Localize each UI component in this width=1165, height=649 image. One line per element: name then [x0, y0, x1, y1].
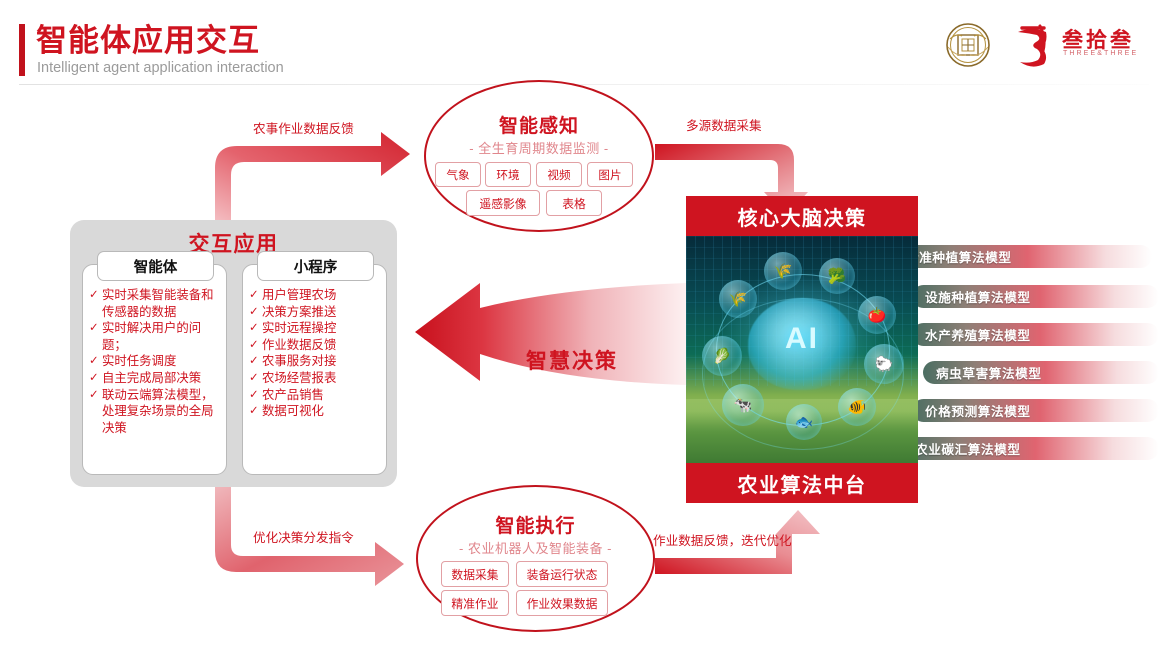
slide-canvas: 智能体应用交互 Intelligent agent application in… — [0, 0, 1165, 649]
cow-bubble-icon: 🐄 — [722, 384, 764, 426]
check-icon: ✓ — [89, 387, 102, 404]
algorithm-model-pill[interactable]: 精准种植算法模型 — [893, 245, 1152, 268]
execution-node[interactable]: 智能执行 - 农业机器人及智能装备 - 数据采集 装备运行状态 精准作业 作业效… — [416, 485, 655, 632]
fish-bubble-icon: 🐟 — [786, 404, 822, 440]
perception-title: 智能感知 — [426, 111, 652, 138]
flow-label-bottom-left: 优化决策分发指令 — [253, 527, 354, 546]
list-item: ✓作业数据反馈 — [249, 337, 382, 354]
card-miniprogram[interactable]: 小程序 ✓用户管理农场 ✓决策方案推送 ✓实时远程操控 ✓作业数据反馈 ✓农事服… — [242, 264, 387, 475]
brand-mark-icon — [1010, 22, 1056, 68]
check-icon: ✓ — [249, 353, 262, 370]
check-icon: ✓ — [89, 370, 102, 387]
list-item-label: 自主完成局部决策 — [102, 370, 222, 387]
sheep-bubble-icon: 🐑 — [864, 344, 904, 384]
list-item-label: 数据可视化 — [262, 403, 382, 420]
broccoli-bubble-icon: 🥦 — [819, 258, 855, 294]
perception-node[interactable]: 智能感知 - 全生育周期数据监测 - 气象 环境 视频 图片 遥感影像 表格 — [424, 80, 654, 232]
perception-chip[interactable]: 气象 — [435, 162, 481, 187]
list-item: ✓农产品销售 — [249, 387, 382, 404]
check-icon: ✓ — [249, 387, 262, 404]
algorithm-model-pill[interactable]: 病虫草害算法模型 — [923, 361, 1159, 384]
list-item: ✓实时任务调度 — [89, 353, 222, 370]
check-icon: ✓ — [249, 304, 262, 321]
list-item-label: 实时远程操控 — [262, 320, 382, 337]
core-brain-footer: 农业算法中台 — [686, 463, 918, 503]
card-agent-list: ✓实时采集智能装备和传感器的数据 ✓实时解决用户的问题； ✓实时任务调度 ✓自主… — [89, 287, 222, 436]
list-item: ✓实时解决用户的问题； — [89, 320, 222, 353]
perception-chip[interactable]: 遥感影像 — [466, 190, 540, 216]
header-divider — [19, 84, 1149, 85]
leafy-green-bubble-icon: 🥬 — [702, 336, 742, 376]
check-icon: ✓ — [89, 320, 102, 337]
list-item: ✓用户管理农场 — [249, 287, 382, 304]
list-item: ✓联动云端算法模型，处理复杂场景的全局决策 — [89, 387, 222, 437]
check-icon: ✓ — [249, 287, 262, 304]
card-agent-caption: 智能体 — [97, 251, 214, 281]
brand-name-en: THREE&THREE — [1063, 50, 1138, 57]
tomato-bubble-icon: 🍅 — [858, 296, 896, 334]
algorithm-model-pill[interactable]: 水产养殖算法模型 — [912, 323, 1159, 346]
execution-chip[interactable]: 装备运行状态 — [516, 561, 608, 587]
check-icon: ✓ — [89, 353, 102, 370]
title-accent-bar — [19, 24, 25, 76]
execution-chip[interactable]: 精准作业 — [441, 590, 509, 616]
list-item: ✓实时采集智能装备和传感器的数据 — [89, 287, 222, 320]
algorithm-model-pill[interactable]: 设施种植算法模型 — [912, 285, 1159, 308]
check-icon: ✓ — [89, 287, 102, 304]
card-miniprogram-list: ✓用户管理农场 ✓决策方案推送 ✓实时远程操控 ✓作业数据反馈 ✓农事服务对接 … — [249, 287, 382, 420]
interactive-application-panel: 交互应用 智能体 ✓实时采集智能装备和传感器的数据 ✓实时解决用户的问题； ✓实… — [70, 220, 397, 487]
rice-bubble-icon: 🌾 — [719, 280, 757, 318]
list-item: ✓农场经营报表 — [249, 370, 382, 387]
list-item-label: 农产品销售 — [262, 387, 382, 404]
list-item-label: 农场经营报表 — [262, 370, 382, 387]
algorithm-model-pill[interactable]: 农业碳汇算法模型 — [902, 437, 1159, 460]
perception-subtitle: - 全生育周期数据监测 - — [426, 138, 652, 157]
perception-chip[interactable]: 表格 — [546, 190, 602, 216]
perception-chip[interactable]: 环境 — [485, 162, 531, 187]
perception-chip[interactable]: 视频 — [536, 162, 582, 187]
threeandthree-logo: 叁拾叁 THREE&THREE — [1010, 22, 1150, 68]
list-item-label: 实时任务调度 — [102, 353, 222, 370]
page-title: 智能体应用交互 — [36, 20, 260, 62]
page-subtitle: Intelligent agent application interactio… — [37, 60, 284, 76]
list-item: ✓农事服务对接 — [249, 353, 382, 370]
fish2-bubble-icon: 🐠 — [838, 388, 876, 426]
check-icon: ✓ — [249, 320, 262, 337]
core-brain-panel: 核心大脑决策 AI 🌾 🥦 🌾 🍅 🥬 🐑 🐄 🐟 🐠 农业算法中台 — [686, 196, 918, 503]
perception-chip[interactable]: 图片 — [587, 162, 633, 187]
list-item-label: 联动云端算法模型，处理复杂场景的全局决策 — [102, 387, 222, 437]
list-item-label: 决策方案推送 — [262, 304, 382, 321]
flow-label-center: 智慧决策 — [526, 345, 618, 375]
list-item-label: 农事服务对接 — [262, 353, 382, 370]
check-icon: ✓ — [249, 370, 262, 387]
algorithm-model-pill[interactable]: 价格预测算法模型 — [912, 399, 1159, 422]
list-item-label: 作业数据反馈 — [262, 337, 382, 354]
flow-label-top-right: 多源数据采集 — [686, 115, 762, 134]
list-item: ✓实时远程操控 — [249, 320, 382, 337]
list-item-label: 用户管理农场 — [262, 287, 382, 304]
card-miniprogram-caption: 小程序 — [257, 251, 374, 281]
list-item: ✓数据可视化 — [249, 403, 382, 420]
ai-brain-illustration: AI 🌾 🥦 🌾 🍅 🥬 🐑 🐄 🐟 🐠 — [686, 236, 918, 463]
heritage-seal-logo — [940, 17, 996, 73]
execution-chip[interactable]: 数据采集 — [441, 561, 509, 587]
list-item-label: 实时解决用户的问题； — [102, 320, 222, 353]
list-item-label: 实时采集智能装备和传感器的数据 — [102, 287, 222, 320]
list-item: ✓自主完成局部决策 — [89, 370, 222, 387]
execution-subtitle: - 农业机器人及智能装备 - — [418, 538, 653, 557]
card-agent[interactable]: 智能体 ✓实时采集智能装备和传感器的数据 ✓实时解决用户的问题； ✓实时任务调度… — [82, 264, 227, 475]
wheat-bubble-icon: 🌾 — [764, 252, 802, 290]
flow-label-bottom-right: 作业数据反馈，迭代优化 — [653, 530, 792, 549]
execution-chip[interactable]: 作业效果数据 — [516, 590, 608, 616]
core-brain-header: 核心大脑决策 — [686, 196, 918, 236]
check-icon: ✓ — [249, 403, 262, 420]
execution-title: 智能执行 — [418, 511, 653, 538]
flow-label-top-left: 农事作业数据反馈 — [253, 118, 354, 137]
list-item: ✓决策方案推送 — [249, 304, 382, 321]
check-icon: ✓ — [249, 337, 262, 354]
